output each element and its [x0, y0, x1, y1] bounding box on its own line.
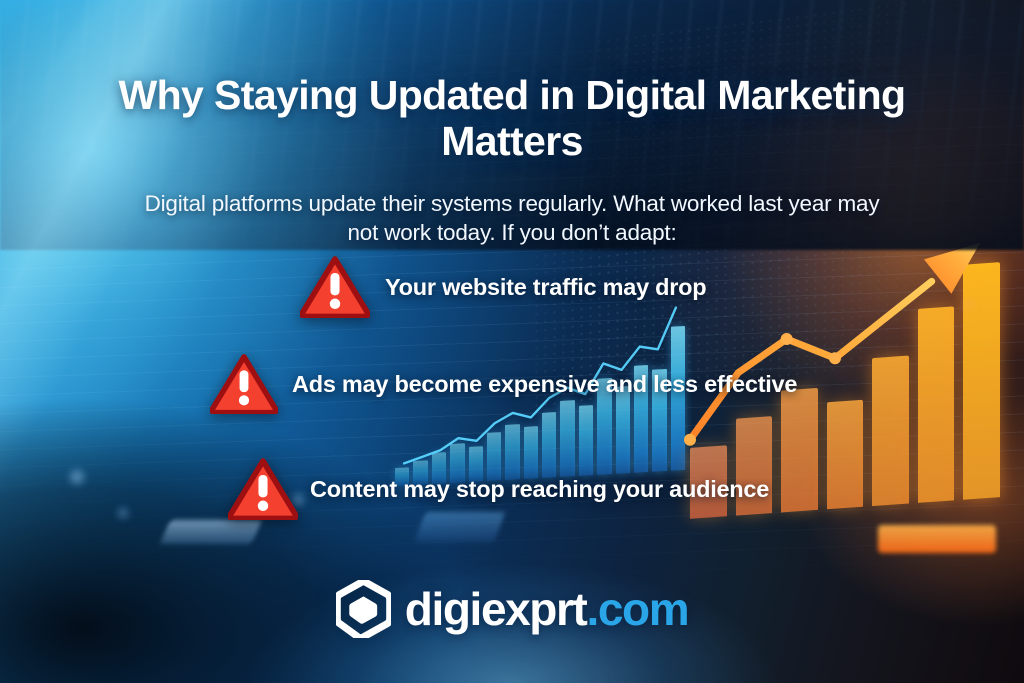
- list-item: Ads may become expensive and less effect…: [210, 354, 797, 414]
- hexagon-logo-icon: [336, 580, 391, 638]
- brand-wordmark: digiexprt.com: [405, 586, 688, 632]
- poster-content: Why Staying Updated in Digital Marketing…: [0, 0, 1024, 683]
- warning-triangle-icon: [300, 256, 370, 318]
- warning-triangle-icon: [228, 458, 298, 520]
- page-title: Why Staying Updated in Digital Marketing…: [0, 73, 1024, 165]
- list-item-label: Content may stop reaching your audience: [310, 476, 769, 503]
- brand-tld: .com: [586, 583, 688, 635]
- list-item: Content may stop reaching your audience: [228, 458, 769, 520]
- list-item-label: Your website traffic may drop: [385, 274, 706, 301]
- brand-logo[interactable]: digiexprt.com: [0, 580, 1024, 638]
- page-subtitle: Digital platforms update their systems r…: [0, 189, 1024, 248]
- warning-list: Your website traffic may drop Ads may be…: [0, 250, 1024, 520]
- list-item-label: Ads may become expensive and less effect…: [292, 371, 797, 398]
- poster-canvas: Why Staying Updated in Digital Marketing…: [0, 0, 1024, 683]
- list-item: Your website traffic may drop: [300, 256, 706, 318]
- brand-name: digiexprt: [405, 583, 587, 635]
- warning-triangle-icon: [210, 354, 278, 414]
